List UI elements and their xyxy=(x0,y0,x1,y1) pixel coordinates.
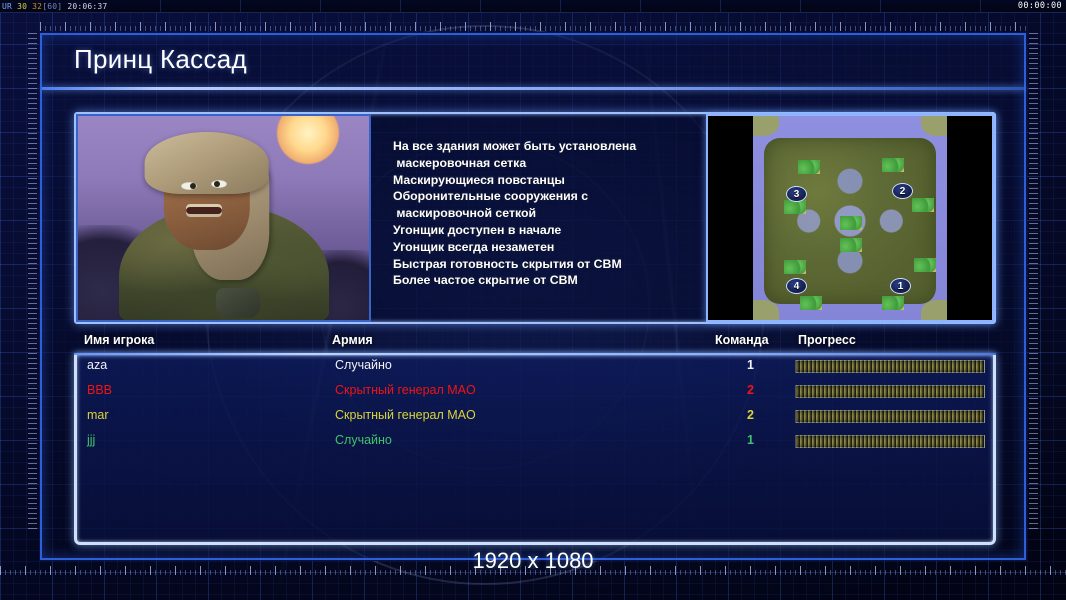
player-progress-bar xyxy=(795,385,985,398)
status-token-clock: 20:06:37 xyxy=(67,2,107,11)
minimap[interactable]: 3241 xyxy=(753,116,947,320)
top-status-bar: UR 30 32[60] 20:06:37 00:00:00 xyxy=(0,0,1066,13)
column-header-team: Команда xyxy=(715,333,769,347)
player-progress-bar xyxy=(795,360,985,373)
column-header-army: Армия xyxy=(332,333,373,347)
player-progress-bar xyxy=(795,410,985,423)
top-status-left: UR 30 32[60] 20:06:37 xyxy=(0,2,107,11)
map-start-position[interactable]: 1 xyxy=(890,278,911,294)
ruler-left xyxy=(28,33,37,531)
player-name: mar xyxy=(87,408,109,422)
map-corner-tl xyxy=(753,116,779,136)
player-name: jjj xyxy=(87,433,95,447)
map-vegetation xyxy=(882,158,904,172)
map-vegetation xyxy=(882,296,904,310)
general-description-list: На все здания может быть установлена мас… xyxy=(393,138,696,289)
description-line: Угонщик всегда незаметен xyxy=(393,239,696,256)
ruler-right xyxy=(1029,33,1038,531)
player-team: 2 xyxy=(747,383,754,397)
description-line: На все здания может быть установлена xyxy=(393,138,696,155)
player-rows: azaСлучайно1BBBСкрытный генерал MAO2marС… xyxy=(77,355,993,455)
general-portrait xyxy=(76,114,371,322)
player-name: aza xyxy=(87,358,107,372)
map-vegetation xyxy=(798,160,820,174)
ruler-top xyxy=(40,22,1026,31)
player-army: Скрытный генерал MAO xyxy=(335,383,476,397)
player-name: BBB xyxy=(87,383,112,397)
status-token-fps: 30 xyxy=(17,2,27,11)
table-row[interactable]: azaСлучайно1 xyxy=(77,355,993,380)
map-vegetation xyxy=(912,198,934,212)
description-line: Оборонительные сооружения с xyxy=(393,188,696,205)
title-bar: Принц Кассад xyxy=(42,35,1024,87)
map-vegetation xyxy=(784,200,806,214)
player-progress-bar xyxy=(795,435,985,448)
map-corner-tr xyxy=(921,116,947,136)
status-token-ping: 32 xyxy=(32,2,42,11)
map-start-position[interactable]: 3 xyxy=(786,186,807,202)
description-line: маскировочной сеткой xyxy=(393,205,696,222)
general-info-panel: На все здания может быть установлена мас… xyxy=(74,112,996,324)
status-token-ur: UR xyxy=(2,2,12,11)
sun-icon xyxy=(277,114,339,164)
main-window-frame: Принц Кассад На все здания может быть ус… xyxy=(40,33,1026,560)
portrait-headwrap xyxy=(144,132,268,194)
status-token-bracket: [60] xyxy=(42,2,62,11)
description-line: Более частое скрытие от СВМ xyxy=(393,272,696,289)
column-header-player-name: Имя игрока xyxy=(84,333,154,347)
match-timer: 00:00:00 xyxy=(1018,1,1062,11)
map-vegetation xyxy=(914,258,936,272)
description-line: Быстрая готовность скрытия от СВМ xyxy=(393,256,696,273)
player-army: Скрытный генерал MAO xyxy=(335,408,476,422)
map-vegetation xyxy=(840,216,862,230)
map-vegetation xyxy=(784,260,806,274)
player-team: 1 xyxy=(747,433,754,447)
portrait-canteen xyxy=(216,288,260,318)
player-team: 2 xyxy=(747,408,754,422)
general-description-box: На все здания может быть установлена мас… xyxy=(371,114,706,322)
minimap-container[interactable]: 3241 xyxy=(706,114,994,322)
player-army: Случайно xyxy=(335,433,392,447)
player-army: Случайно xyxy=(335,358,392,372)
player-team: 1 xyxy=(747,358,754,372)
column-header-progress: Прогресс xyxy=(798,333,856,347)
map-vegetation xyxy=(840,238,862,252)
portrait-mouth xyxy=(186,204,222,217)
resolution-label: 1920 x 1080 xyxy=(0,548,1066,574)
table-row[interactable]: marСкрытный генерал MAO2 xyxy=(77,405,993,430)
portrait-pupil-left xyxy=(190,183,196,189)
player-table-header: Имя игрока Армия Команда Прогресс xyxy=(74,333,996,353)
description-line: Маскирующиеся повстанцы xyxy=(393,172,696,189)
player-table-panel: azaСлучайно1BBBСкрытный генерал MAO2marС… xyxy=(74,355,996,545)
map-start-position[interactable]: 4 xyxy=(786,278,807,294)
title-divider xyxy=(42,87,1024,90)
map-start-position[interactable]: 2 xyxy=(892,183,913,199)
table-row[interactable]: jjjСлучайно1 xyxy=(77,430,993,455)
table-row[interactable]: BBBСкрытный генерал MAO2 xyxy=(77,380,993,405)
map-vegetation xyxy=(800,296,822,310)
page-title: Принц Кассад xyxy=(74,44,247,75)
description-line: Угонщик доступен в начале xyxy=(393,222,696,239)
portrait-pupil-right xyxy=(214,181,220,187)
description-line: маскеровочная сетка xyxy=(393,155,696,172)
